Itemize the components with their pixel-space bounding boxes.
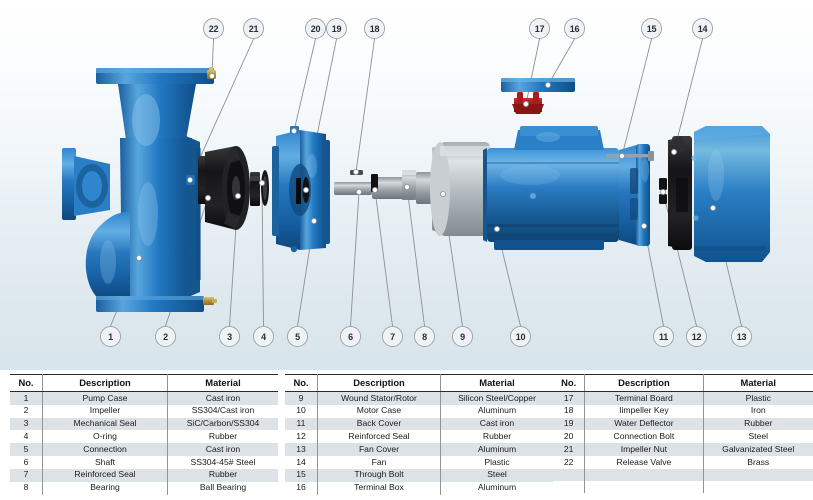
col-header-desc: Description (318, 375, 441, 392)
cell-material: Rubber (703, 418, 813, 431)
cell-description: Mechanical Seal (43, 418, 168, 431)
table-row: 1Pump CaseCast iron (10, 392, 278, 405)
cell-no: 15 (285, 469, 318, 482)
cell-no: 2 (10, 405, 43, 418)
cell-material: Plastic (441, 456, 554, 469)
cell-material: Rubber (168, 469, 279, 482)
cell-description: Shaft (43, 456, 168, 469)
callout-14[interactable]: 14 (692, 18, 713, 39)
cell-no: 22 (553, 456, 585, 469)
cell-description: Impeller (43, 405, 168, 418)
cell-material (703, 481, 813, 493)
cell-material: Aluminum (441, 482, 554, 495)
col-header-mat: Material (168, 375, 279, 392)
cell-no: 4 (10, 430, 43, 443)
cell-material (703, 469, 813, 481)
col-header-no: No. (553, 375, 585, 392)
cell-no: 8 (10, 482, 43, 495)
table-row: 11Back CoverCast iron (285, 418, 553, 431)
part-connection (272, 128, 330, 252)
cell-description: Terminal Box (318, 482, 441, 495)
cell-description: O-ring (43, 430, 168, 443)
table-row: 5ConnectionCast iron (10, 443, 278, 456)
cell-material: SS304/Cast iron (168, 405, 279, 418)
parts-table-1-body: 1Pump CaseCast iron2ImpellerSS304/Cast i… (10, 392, 278, 495)
cell-description: Impeller Nut (585, 443, 703, 456)
parts-table-2: No. Description Material 9Wound Stator/R… (285, 374, 553, 495)
table-row: 4O-ringRubber (10, 430, 278, 443)
cell-material: Galvanizated Steel (703, 443, 813, 456)
table-row: 17Terminal BoardPlastic (553, 392, 813, 405)
part-shaft (334, 172, 438, 204)
part-drain-plug (203, 297, 217, 305)
cell-no: 20 (553, 430, 585, 443)
cell-description: Back Cover (318, 418, 441, 431)
parts-table-3: No. Description Material 17Terminal Boar… (553, 374, 813, 493)
callout-4[interactable]: 4 (253, 326, 274, 347)
cell-description: Bearing (43, 482, 168, 495)
cell-description: Pump Case (43, 392, 168, 405)
part-terminal-box (501, 78, 575, 92)
table-row: 20Connection BoltSteel (553, 430, 813, 443)
callout-16[interactable]: 16 (564, 18, 585, 39)
col-header-no: No. (10, 375, 43, 392)
callout-12[interactable]: 12 (686, 326, 707, 347)
col-header-mat: Material (703, 375, 813, 392)
callout-10[interactable]: 10 (510, 326, 531, 347)
cell-no: 5 (10, 443, 43, 456)
cell-material: Aluminum (441, 443, 554, 456)
parts-table-2-body: 9Wound Stator/RotorSilicon Steel/Copper1… (285, 392, 553, 495)
col-header-desc: Description (43, 375, 168, 392)
part-fan-cover (691, 126, 770, 262)
callout-13[interactable]: 13 (731, 326, 752, 347)
callout-5[interactable]: 5 (287, 326, 308, 347)
cell-material: SiC/Carbon/SS304 (168, 418, 279, 431)
callout-18[interactable]: 18 (364, 18, 385, 39)
cell-no: 7 (10, 469, 43, 482)
cell-description: Motor Case (318, 405, 441, 418)
col-header-desc: Description (585, 375, 703, 392)
table-row: 16Terminal BoxAluminum (285, 482, 553, 495)
cell-description: Terminal Board (585, 392, 703, 405)
cell-material: Silicon Steel/Copper (441, 392, 554, 405)
callout-7[interactable]: 7 (382, 326, 403, 347)
cell-description: Reinforced Seal (43, 469, 168, 482)
callout-22[interactable]: 22 (203, 18, 224, 39)
cell-no: 16 (285, 482, 318, 495)
table-row: 15Through BoltSteel (285, 469, 553, 482)
table-row (553, 469, 813, 481)
cell-material: Plastic (703, 392, 813, 405)
table-header-row: No. Description Material (285, 375, 553, 392)
cell-description: Wound Stator/Rotor (318, 392, 441, 405)
part-impeller (198, 146, 250, 230)
table-row: 12Reinforced SealRubber (285, 430, 553, 443)
cell-no: 1 (10, 392, 43, 405)
part-motor-case (483, 126, 619, 250)
cell-no: 11 (285, 418, 318, 431)
part-mechanical-seal (250, 172, 260, 206)
callout-20[interactable]: 20 (305, 18, 326, 39)
table-row: 21Impeller NutGalvanizated Steel (553, 443, 813, 456)
cell-material: Cast iron (168, 392, 279, 405)
parts-table-1: No. Description Material 1Pump CaseCast … (10, 374, 278, 495)
table-row: 9Wound Stator/RotorSilicon Steel/Copper (285, 392, 553, 405)
parts-tables: No. Description Material 1Pump CaseCast … (0, 370, 813, 500)
cell-description: Fan Cover (318, 443, 441, 456)
callout-17[interactable]: 17 (529, 18, 550, 39)
cell-description: Fan (318, 456, 441, 469)
cell-no: 19 (553, 418, 585, 431)
cell-no: 10 (285, 405, 318, 418)
callout-3[interactable]: 3 (219, 326, 240, 347)
table-row (553, 481, 813, 493)
cell-material: Ball Bearing (168, 482, 279, 495)
callout-9[interactable]: 9 (452, 326, 473, 347)
cell-no: 3 (10, 418, 43, 431)
table-row: 3Mechanical SealSiC/Carbon/SS304 (10, 418, 278, 431)
table-header-row: No. Description Material (553, 375, 813, 392)
callout-11[interactable]: 11 (653, 326, 674, 347)
cell-material: Iron (703, 405, 813, 418)
cell-material: Cast iron (168, 443, 279, 456)
table-row: 10Motor CaseAluminum (285, 405, 553, 418)
callout-15[interactable]: 15 (641, 18, 662, 39)
table-row: 19Water DeflectorRubber (553, 418, 813, 431)
cell-description (585, 481, 703, 493)
cell-material: Steel (441, 469, 554, 482)
cell-material: Aluminum (441, 405, 554, 418)
callout-2[interactable]: 2 (155, 326, 176, 347)
table-row: 18Iimpeller KeyIron (553, 405, 813, 418)
table-row: 8BearingBall Bearing (10, 482, 278, 495)
cell-description: Connection Bolt (585, 430, 703, 443)
parts-table-3-body: 17Terminal BoardPlastic18Iimpeller KeyIr… (553, 392, 813, 494)
part-o-ring (261, 170, 269, 206)
table-row: 13Fan CoverAluminum (285, 443, 553, 456)
cell-no (553, 469, 585, 481)
cell-no: 6 (10, 456, 43, 469)
table-row: 6ShaftSS304-45# Steel (10, 456, 278, 469)
cell-description: Iimpeller Key (585, 405, 703, 418)
cell-description: Through Bolt (318, 469, 441, 482)
table-row: 22Release ValveBrass (553, 456, 813, 469)
part-pump-case (62, 68, 214, 312)
cell-description: Reinforced Seal (318, 430, 441, 443)
cell-no: 18 (553, 405, 585, 418)
cell-material: SS304-45# Steel (168, 456, 279, 469)
table-header-row: No. Description Material (10, 375, 278, 392)
callout-8[interactable]: 8 (414, 326, 435, 347)
callout-19[interactable]: 19 (326, 18, 347, 39)
cell-material: Cast iron (441, 418, 554, 431)
callout-6[interactable]: 6 (340, 326, 361, 347)
cell-material: Rubber (441, 430, 554, 443)
cell-material: Rubber (168, 430, 279, 443)
cell-no: 17 (553, 392, 585, 405)
callout-1[interactable]: 1 (100, 326, 121, 347)
part-wound-stator-rotor (430, 142, 490, 236)
callout-21[interactable]: 21 (243, 18, 264, 39)
table-row: 7Reinforced SealRubber (10, 469, 278, 482)
cell-description: Water Deflector (585, 418, 703, 431)
cell-material: Steel (703, 430, 813, 443)
part-back-cover (619, 144, 650, 246)
cell-description: Release Valve (585, 456, 703, 469)
cell-no: 21 (553, 443, 585, 456)
diagram-canvas (0, 0, 813, 370)
cell-no: 9 (285, 392, 318, 405)
cell-no: 12 (285, 430, 318, 443)
cell-material: Brass (703, 456, 813, 469)
table-row: 2ImpellerSS304/Cast iron (10, 405, 278, 418)
col-header-no: No. (285, 375, 318, 392)
col-header-mat: Material (441, 375, 554, 392)
cell-description: Connection (43, 443, 168, 456)
cell-no: 13 (285, 443, 318, 456)
exploded-diagram: 12345678910111213141516171819202122 (0, 0, 813, 370)
cell-no (553, 481, 585, 493)
cell-no: 14 (285, 456, 318, 469)
cell-description (585, 469, 703, 481)
table-row: 14FanPlastic (285, 456, 553, 469)
